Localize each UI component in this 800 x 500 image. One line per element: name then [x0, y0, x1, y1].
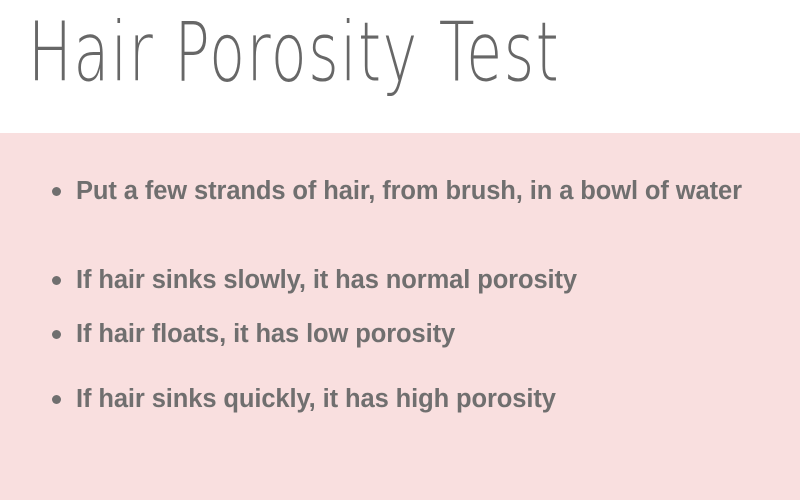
content-band: Put a few strands of hair, from brush, i…: [0, 133, 800, 500]
list-item: Put a few strands of hair, from brush, i…: [46, 173, 782, 209]
slide-canvas: Hair Porosity Test Put a few strands of …: [0, 0, 800, 500]
page-title: Hair Porosity Test: [28, 12, 560, 94]
list-item: If hair sinks slowly, it has normal poro…: [46, 262, 782, 298]
list-item: If hair sinks quickly, it has high poros…: [46, 381, 782, 417]
title-band: Hair Porosity Test: [0, 0, 800, 133]
list-item: If hair floats, it has low porosity: [46, 316, 782, 352]
